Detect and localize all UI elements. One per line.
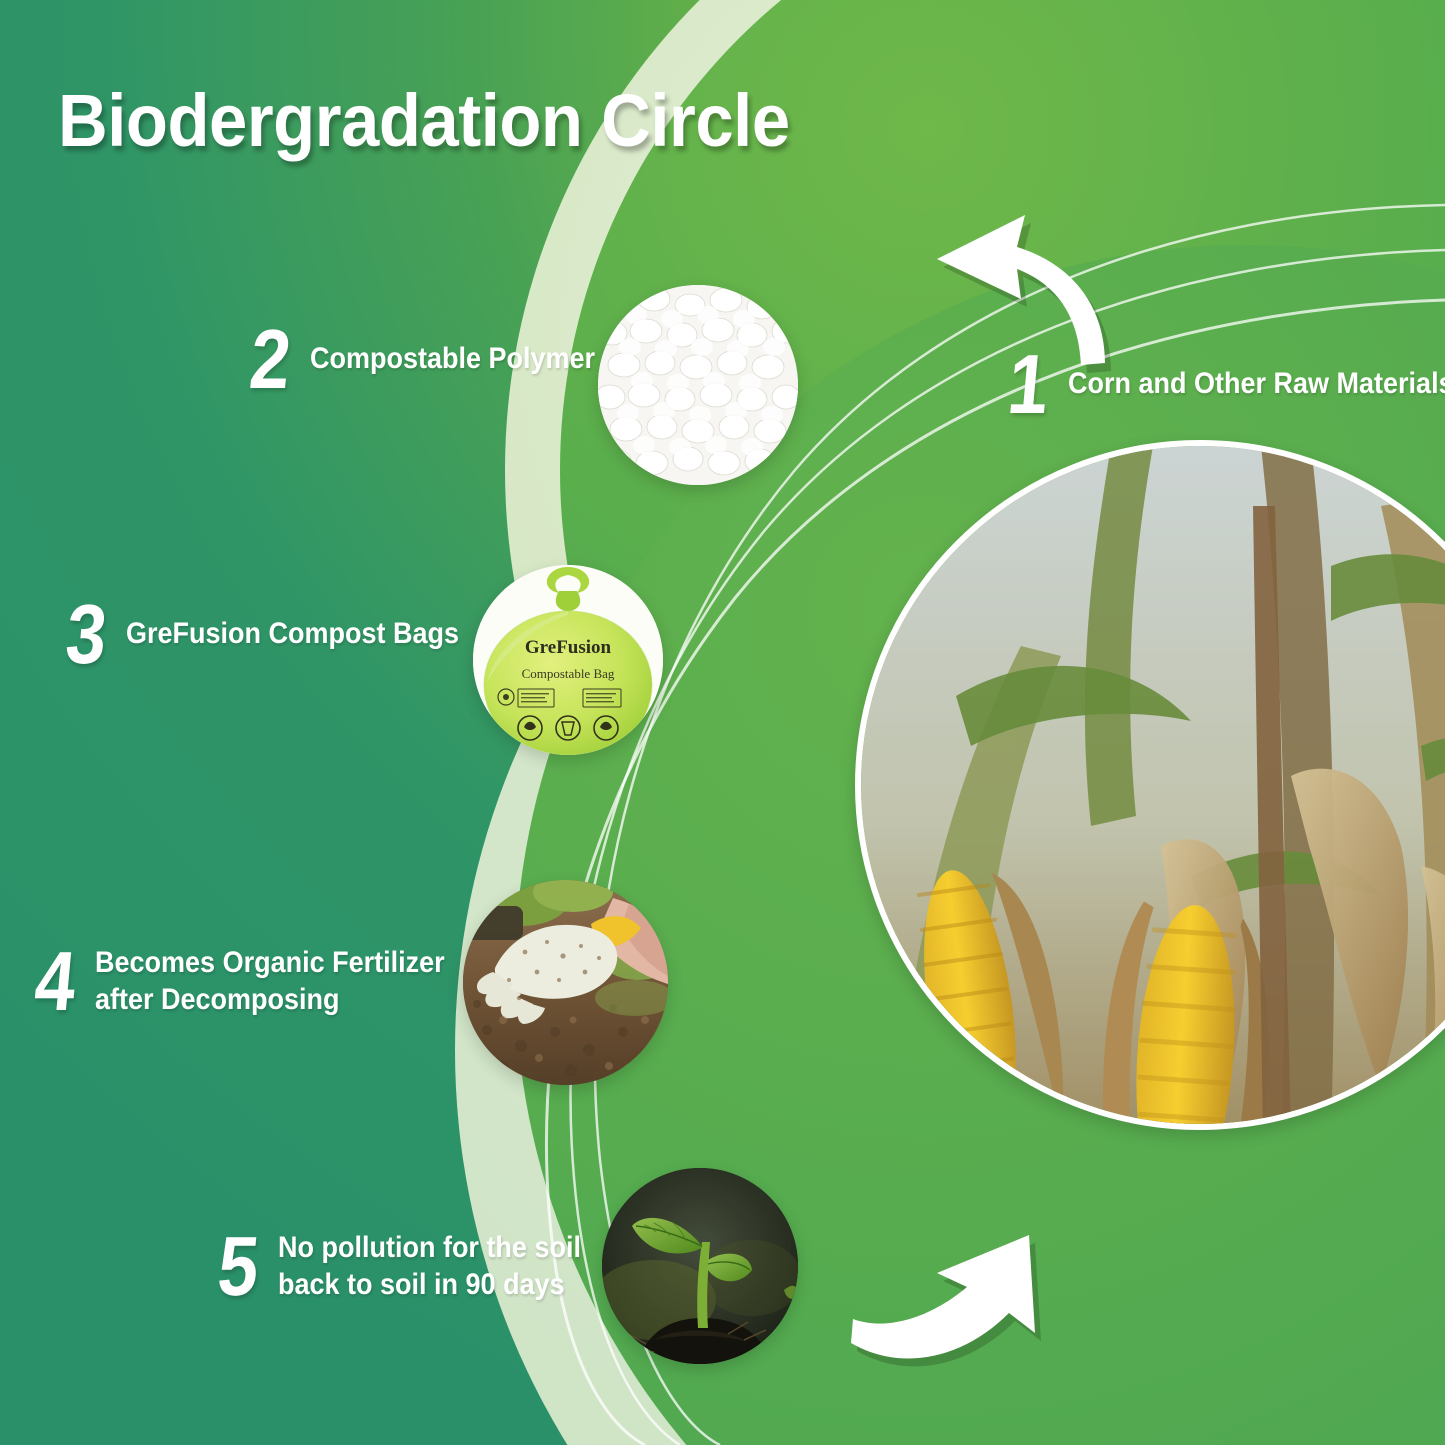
- bag-subtitle-text: Compostable Bag: [522, 666, 615, 681]
- step-label-5-line1: No pollution for the soil: [278, 1231, 581, 1264]
- step-number-3: 3: [63, 600, 109, 669]
- step-item-4: 4 Becomes Organic Fertilizer after Decom…: [32, 945, 483, 1018]
- step-label-3: GreFusion Compost Bags: [126, 616, 459, 653]
- step-number-2: 2: [247, 325, 293, 394]
- cycle-arrow-bottom: [835, 1215, 1085, 1395]
- page-title: Biodergradation Circle: [58, 78, 790, 163]
- step-number-5: 5: [215, 1232, 261, 1301]
- step-label-4: Becomes Organic Fertilizer after Decompo…: [95, 945, 445, 1018]
- compost-bag-photo: GreFusion Compostable Bag: [473, 565, 663, 755]
- step-item-3: 3 GreFusion Compost Bags: [63, 600, 496, 669]
- step-label-5: No pollution for the soil back to soil i…: [278, 1230, 581, 1303]
- step-number-4: 4: [32, 947, 78, 1016]
- infographic-canvas: Biodergradation Circle: [0, 0, 1445, 1445]
- soil-hands-photo: [463, 880, 668, 1085]
- cycle-arrow-top: [905, 205, 1155, 380]
- step-label-4-line2: after Decomposing: [95, 982, 445, 1019]
- corn-field-photo: [855, 440, 1445, 1130]
- seedling-photo: [602, 1168, 798, 1364]
- bag-brand-text: GreFusion: [525, 637, 612, 658]
- step-label-2: Compostable Polymer: [310, 341, 595, 378]
- step-item-5: 5 No pollution for the soil back to soil…: [215, 1230, 614, 1303]
- step-label-4-line1: Becomes Organic Fertilizer: [95, 946, 445, 979]
- step-label-5-line2: back to soil in 90 days: [278, 1267, 581, 1304]
- polymer-pellets-photo: [598, 285, 798, 485]
- step-item-2: 2 Compostable Polymer: [247, 325, 626, 394]
